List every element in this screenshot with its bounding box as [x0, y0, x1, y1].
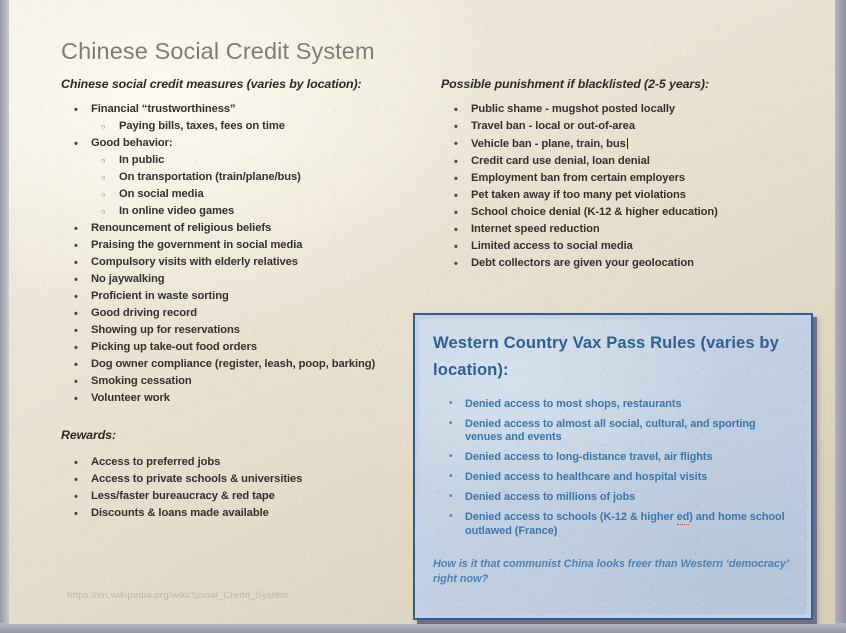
list-item-label: Discounts & loans made available	[91, 508, 421, 519]
list-item-label: Proficient in waste sorting	[91, 291, 421, 302]
punishment-list: Public shame - mugshot posted locallyTra…	[441, 104, 789, 269]
list-item: Discounts & loans made available	[61, 508, 421, 519]
list-item-label: Renouncement of religious beliefs	[91, 223, 421, 234]
rewards-list: Access to preferred jobsAccess to privat…	[61, 457, 421, 519]
list-item: Picking up take-out food orders	[61, 342, 421, 353]
list-item: Renouncement of religious beliefs	[61, 223, 421, 234]
list-item-label: Denied access to most shops, restaurants	[465, 398, 682, 410]
list-item: Denied access to healthcare and hospital…	[431, 471, 795, 485]
sub-list-item: In online video games	[91, 206, 421, 217]
list-item-label: Good driving record	[91, 308, 421, 319]
list-item: Good driving record	[61, 308, 421, 319]
list-item-label: Volunteer work	[91, 393, 421, 404]
list-item-label: Denied access to long-distance travel, a…	[465, 451, 712, 463]
list-item-label: Access to private schools & universities	[91, 474, 421, 485]
vax-pass-rules-callout-box: Western Country Vax Pass Rules (varies b…	[413, 313, 813, 620]
sub-list-item-label: On transportation (train/plane/bus)	[119, 171, 301, 183]
sub-list: Paying bills, taxes, fees on time	[91, 121, 421, 132]
list-item: Public shame - mugshot posted locally	[441, 104, 789, 115]
list-item-label: No jaywalking	[91, 274, 421, 285]
list-item-label: Vehicle ban - plane, train, bus	[471, 138, 626, 150]
list-item-label: Financial “trustworthiness”	[91, 104, 421, 115]
list-item-label: Praising the government in social media	[91, 240, 421, 251]
list-item: Travel ban - local or out-of-area	[441, 121, 789, 132]
left-column-heading: Chinese social credit measures (varies b…	[61, 78, 421, 90]
slide-frame: Chinese Social Credit System Chinese soc…	[0, 0, 846, 633]
source-url-link[interactable]: https://en.wikipedia.org/wiki/Social_Cre…	[67, 590, 288, 601]
list-item: Financial “trustworthiness”Paying bills,…	[61, 104, 421, 132]
list-item: Proficient in waste sorting	[61, 291, 421, 302]
right-column-heading: Possible punishment if blacklisted (2-5 …	[441, 78, 789, 90]
list-item: Denied access to long-distance travel, a…	[431, 451, 795, 465]
list-item: Credit card use denial, loan denial	[441, 156, 789, 167]
list-item: School choice denial (K-12 & higher educ…	[441, 207, 789, 218]
slide-canvas: Chinese Social Credit System Chinese soc…	[9, 0, 835, 624]
list-item: Less/faster bureaucracy & red tape	[61, 491, 421, 502]
list-item-label: Denied access to millions of jobs	[465, 491, 635, 503]
list-item-label: Compulsory visits with elderly relatives	[91, 257, 421, 268]
list-item: Volunteer work	[61, 393, 421, 404]
page-title: Chinese Social Credit System	[61, 38, 375, 65]
sub-list-item: Paying bills, taxes, fees on time	[91, 121, 421, 132]
vax-pass-rules-list: Denied access to most shops, restaurants…	[431, 398, 795, 539]
list-item: Denied access to schools (K-12 & higher …	[431, 511, 795, 538]
vax-box-footnote: How is it that communist China looks fre…	[433, 557, 795, 589]
rewards-heading: Rewards:	[61, 429, 421, 441]
list-item: Smoking cessation	[61, 376, 421, 387]
list-item-label: Denied access to schools (K-12 & higher	[465, 511, 677, 523]
list-item: Limited access to social media	[441, 241, 789, 252]
list-item-label: Internet speed reduction	[471, 224, 789, 235]
list-item: Good behavior:In publicOn transportation…	[61, 138, 421, 217]
social-credit-measures-list: Financial “trustworthiness”Paying bills,…	[61, 104, 421, 404]
list-item: Praising the government in social media	[61, 240, 421, 251]
slide-edge-bottom	[0, 623, 846, 633]
list-item: Access to private schools & universities	[61, 474, 421, 485]
list-item-label: Showing up for reservations	[91, 325, 421, 336]
list-item-label: Public shame - mugshot posted locally	[471, 104, 789, 115]
list-item: Denied access to most shops, restaurants	[431, 398, 795, 412]
sub-list-item-label: In public	[119, 154, 164, 166]
list-item: Internet speed reduction	[441, 224, 789, 235]
list-item-label: Denied access to almost all social, cult…	[465, 418, 756, 444]
list-item-label: Credit card use denial, loan denial	[471, 156, 789, 167]
sub-list-item: On social media	[91, 189, 421, 200]
list-item-label: Debt collectors are given your geolocati…	[471, 258, 789, 269]
list-item-label: Limited access to social media	[471, 241, 789, 252]
list-item-label: School choice denial (K-12 & higher educ…	[471, 207, 789, 218]
spellcheck-underlined-word: ed	[677, 511, 690, 525]
list-item-label: Denied access to healthcare and hospital…	[465, 471, 707, 483]
list-item: Debt collectors are given your geolocati…	[441, 258, 789, 269]
list-item-label: Good behavior:	[91, 138, 421, 149]
list-item-label: Smoking cessation	[91, 376, 421, 387]
sub-list-item: In public	[91, 155, 421, 166]
list-item-label: Travel ban - local or out-of-area	[471, 121, 789, 132]
list-item-label: Pet taken away if too many pet violation…	[471, 190, 789, 201]
slide-edge-right	[834, 0, 846, 633]
list-item-label: Access to preferred jobs	[91, 457, 421, 468]
list-item: Vehicle ban - plane, train, bus	[441, 138, 789, 150]
list-item: No jaywalking	[61, 274, 421, 285]
list-item: Denied access to almost all social, cult…	[431, 418, 795, 445]
sub-list-item: On transportation (train/plane/bus)	[91, 172, 421, 183]
slide-edge-left	[0, 0, 9, 633]
list-item: Compulsory visits with elderly relatives	[61, 257, 421, 268]
list-item-label: Dog owner compliance (register, leash, p…	[91, 359, 421, 370]
sub-list-item-label: In online video games	[119, 205, 234, 217]
list-item: Employment ban from certain employers	[441, 173, 789, 184]
list-item: Pet taken away if too many pet violation…	[441, 190, 789, 201]
sub-list-item-label: Paying bills, taxes, fees on time	[119, 120, 285, 132]
vax-box-title: Western Country Vax Pass Rules (varies b…	[433, 329, 795, 384]
left-column: Chinese social credit measures (varies b…	[61, 78, 421, 525]
list-item: Showing up for reservations	[61, 325, 421, 336]
list-item: Denied access to millions of jobs	[431, 491, 795, 505]
list-item-label: Less/faster bureaucracy & red tape	[91, 491, 421, 502]
sub-list: In publicOn transportation (train/plane/…	[91, 155, 421, 217]
list-item: Access to preferred jobs	[61, 457, 421, 468]
list-item: Dog owner compliance (register, leash, p…	[61, 359, 421, 370]
list-item-label: Employment ban from certain employers	[471, 173, 789, 184]
right-column: Possible punishment if blacklisted (2-5 …	[441, 78, 789, 275]
sub-list-item-label: On social media	[119, 188, 204, 200]
list-item-label: Picking up take-out food orders	[91, 342, 421, 353]
text-cursor-caret	[627, 138, 628, 149]
